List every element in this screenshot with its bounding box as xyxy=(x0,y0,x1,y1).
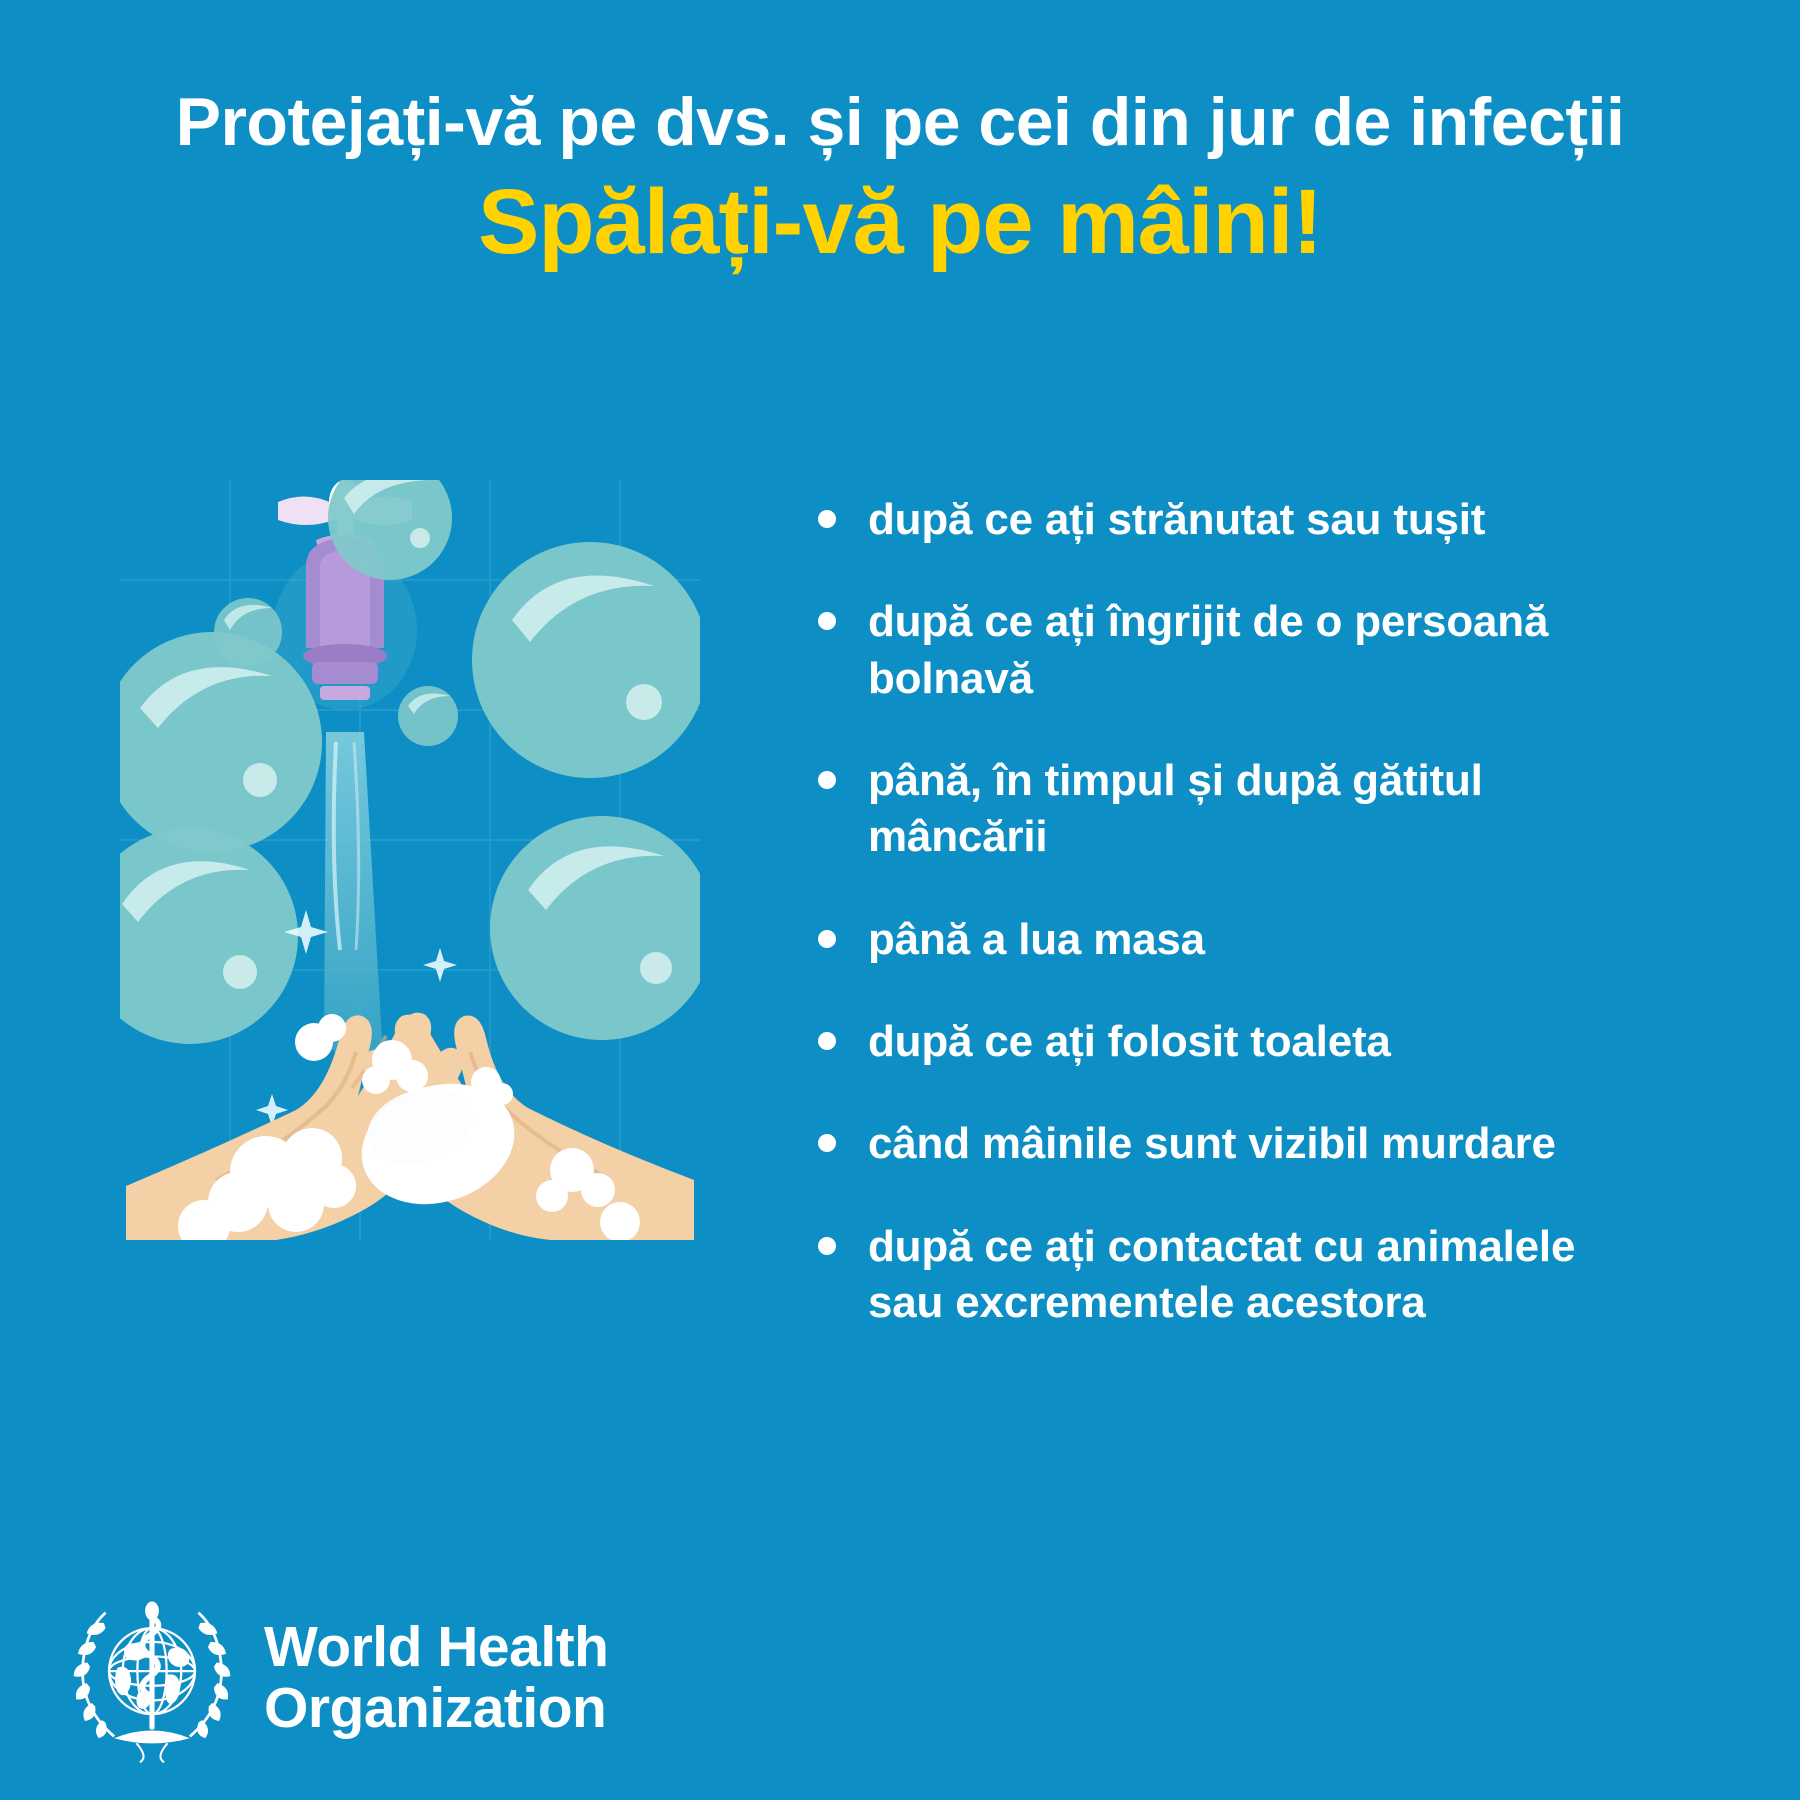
bullet-icon xyxy=(818,1032,836,1050)
handwashing-moments-list: după ce ați strănutat sau tușit după ce … xyxy=(818,492,1608,1377)
wreath-ribbon xyxy=(137,1743,168,1762)
list-item-label: după ce ați strănutat sau tușit xyxy=(868,492,1485,548)
who-handwashing-poster: Protejați-vă pe dvs. și pe cei din jur d… xyxy=(0,0,1800,1800)
list-item: când mâinile sunt vizibil murdare xyxy=(818,1116,1608,1172)
who-logo: World Health Organization xyxy=(66,1592,608,1764)
list-item: după ce ați folosit toaleta xyxy=(818,1014,1608,1070)
bullet-icon xyxy=(818,612,836,630)
list-item: până, în timpul și după gătitul mâncării xyxy=(818,753,1608,866)
bullet-icon xyxy=(818,1134,836,1152)
bullet-icon xyxy=(818,771,836,789)
list-item-label: după ce ați folosit toaleta xyxy=(868,1014,1391,1070)
list-item: până a lua masa xyxy=(818,912,1608,968)
bullet-icon xyxy=(818,510,836,528)
list-item: după ce ați strănutat sau tușit xyxy=(818,492,1608,548)
wreath-tie xyxy=(114,1730,190,1743)
bullet-icon xyxy=(818,1237,836,1255)
who-wordmark-line1: World Health xyxy=(264,1617,608,1678)
list-item: după ce ați îngrijit de o persoană bolna… xyxy=(818,594,1608,707)
list-item-label: după ce ați îngrijit de o persoană bolna… xyxy=(868,594,1608,707)
who-emblem-icon xyxy=(66,1592,238,1764)
headline-block: Protejați-vă pe dvs. și pe cei din jur d… xyxy=(0,86,1800,273)
page-title-primary: Protejați-vă pe dvs. și pe cei din jur d… xyxy=(0,86,1800,159)
page-title-secondary: Spălați-vă pe mâini! xyxy=(0,173,1800,272)
list-item-label: până, în timpul și după gătitul mâncării xyxy=(868,753,1608,866)
list-item: după ce ați contactat cu animalele sau e… xyxy=(818,1219,1608,1332)
list-item-label: până a lua masa xyxy=(868,912,1205,968)
handwashing-illustration xyxy=(120,480,700,1240)
bullet-icon xyxy=(818,930,836,948)
list-item-label: când mâinile sunt vizibil murdare xyxy=(868,1116,1556,1172)
list-item-label: după ce ați contactat cu animalele sau e… xyxy=(868,1219,1608,1332)
handwashing-illustration-svg xyxy=(120,480,700,1240)
who-wordmark: World Health Organization xyxy=(264,1617,608,1739)
who-wordmark-line2: Organization xyxy=(264,1678,608,1739)
